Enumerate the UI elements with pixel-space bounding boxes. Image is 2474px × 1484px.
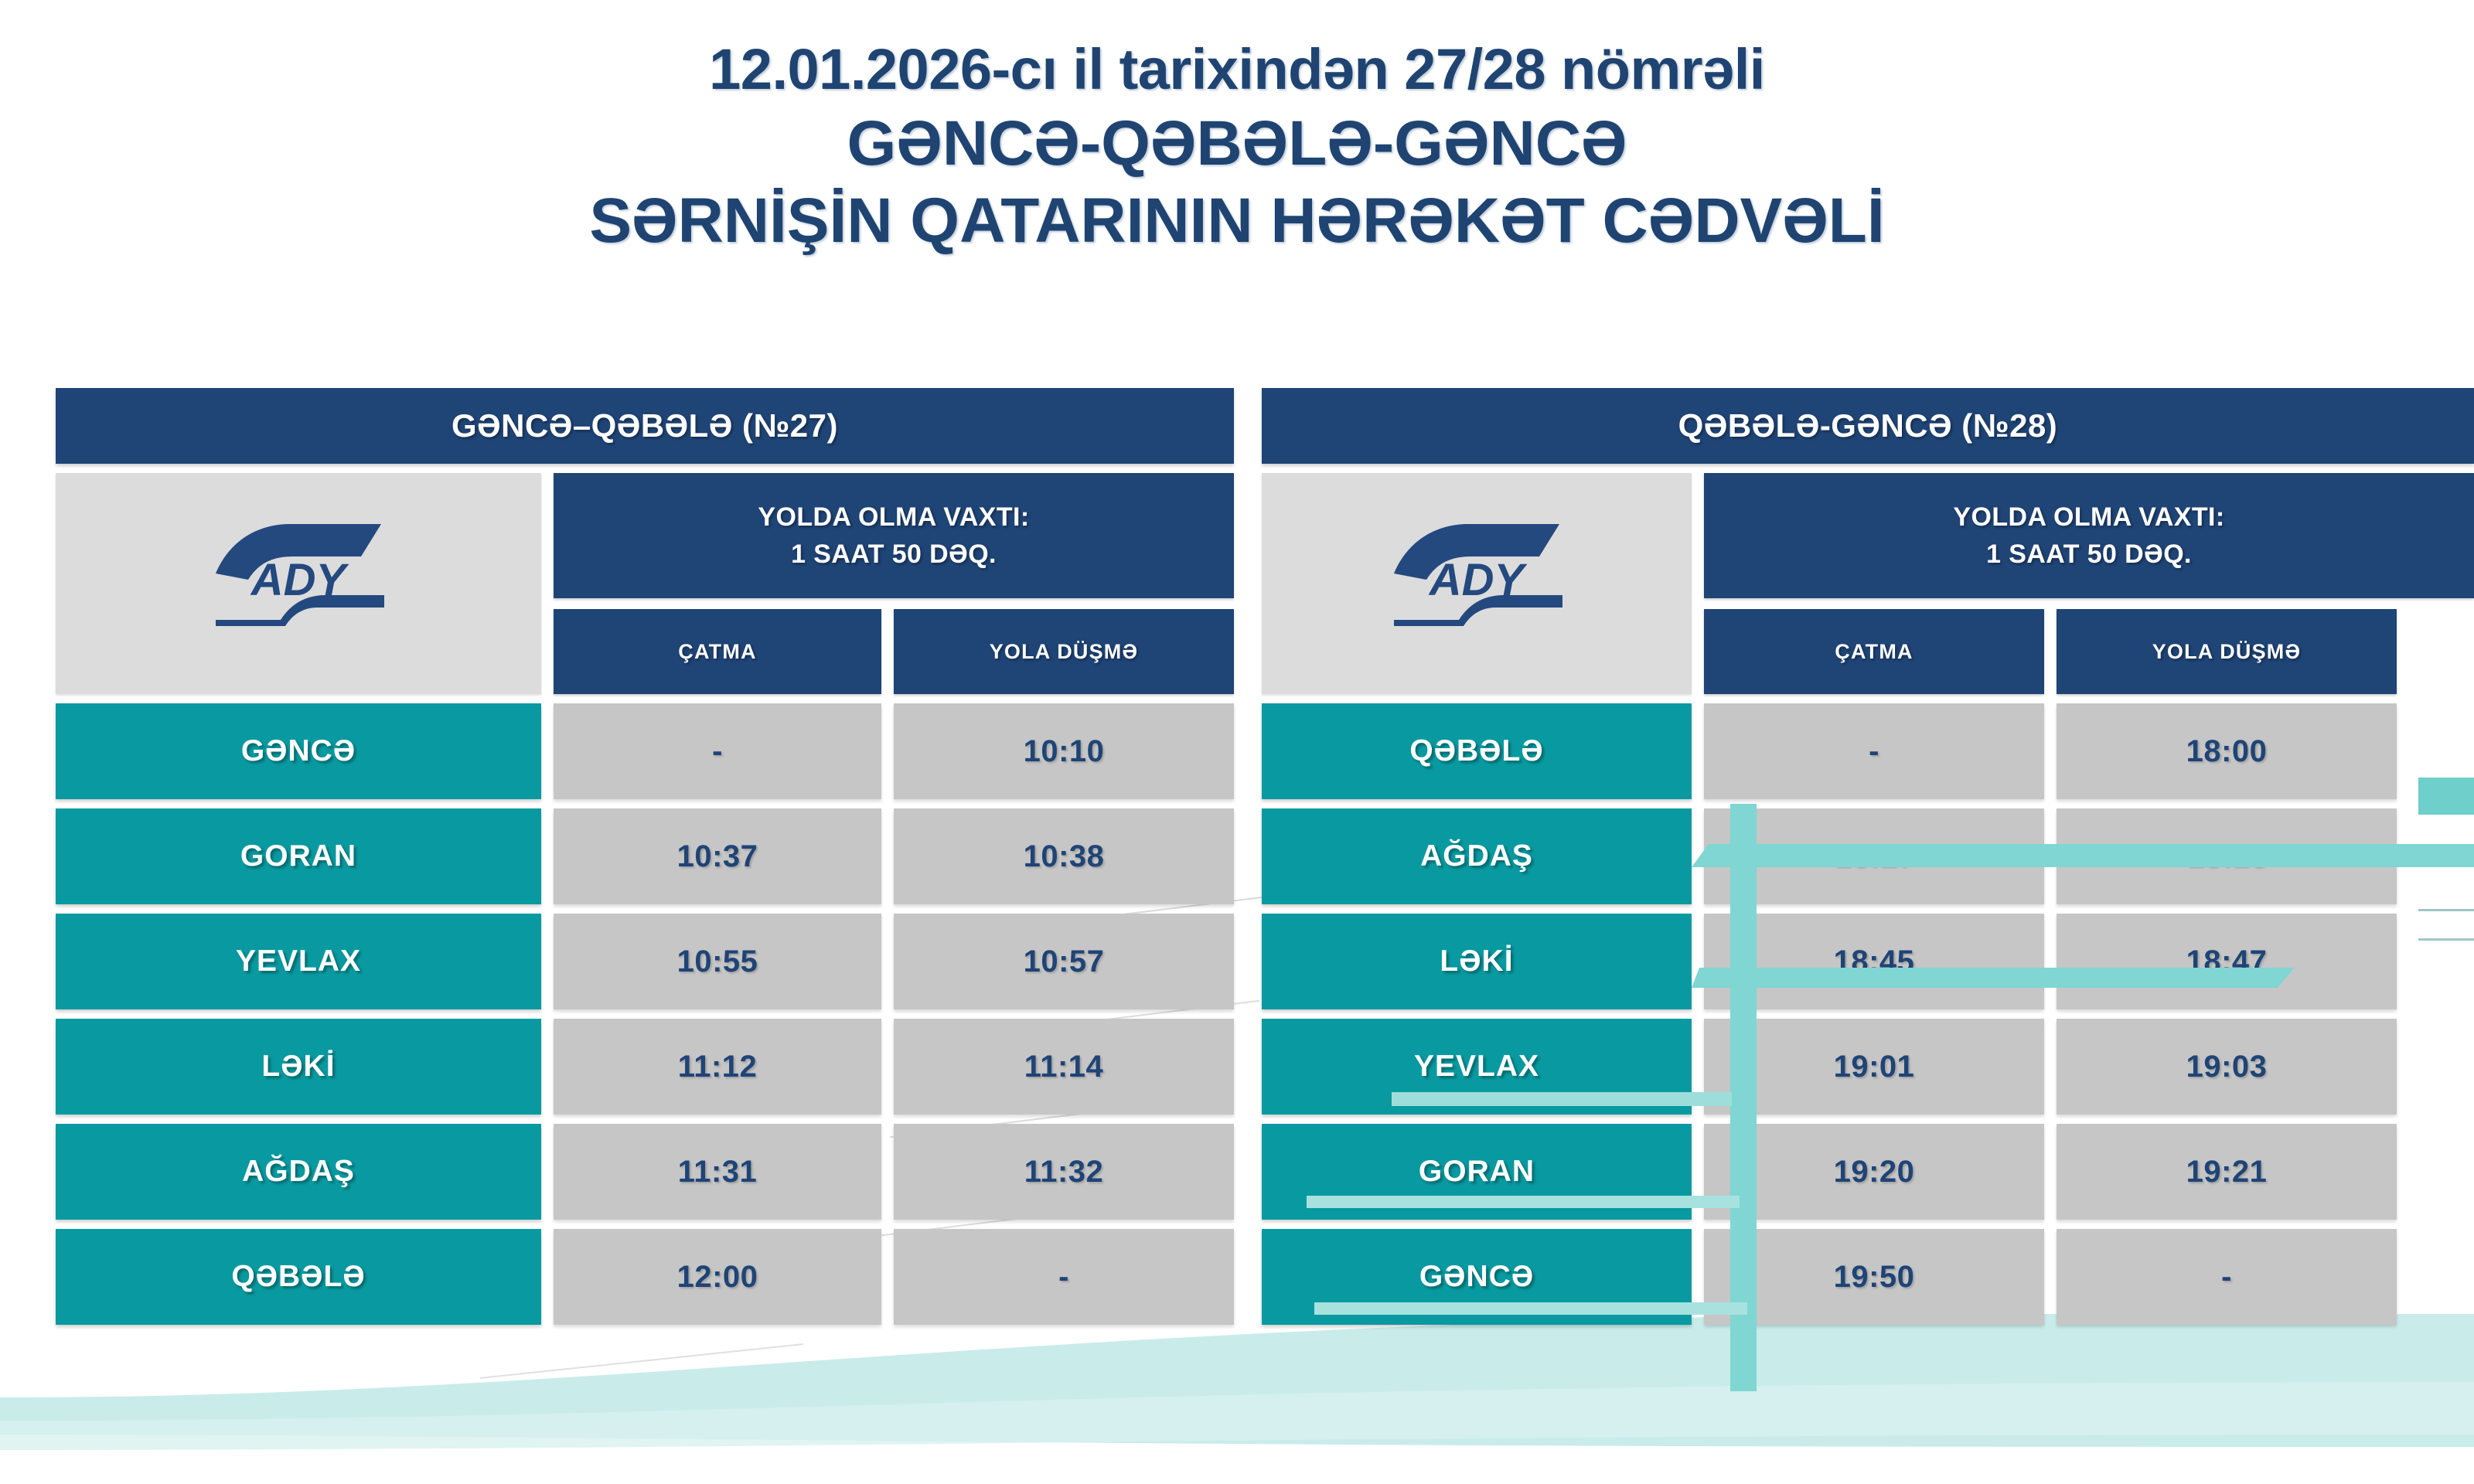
departure-time: 18:47 [2057, 914, 2397, 1009]
arrival-time: - [554, 703, 881, 799]
title-line-route: GƏNCƏ-QƏBƏLƏ-GƏNCƏ [0, 105, 2474, 182]
arrival-time: 19:20 [1704, 1124, 2044, 1220]
arrival-time: - [1704, 703, 2044, 799]
header-right-outbound: YOLDA OLMA VAXTI: 1 SAAT 50 DƏQ. ÇATMA Y… [554, 473, 1234, 694]
station-name: GORAN [56, 808, 541, 904]
departure-time: 10:57 [894, 914, 1234, 1009]
arrival-time: 19:50 [1704, 1229, 2044, 1325]
direction-banner-outbound: GƏNCƏ–QƏBƏLƏ (№27) [56, 388, 1234, 464]
arrival-time: 12:00 [554, 1229, 881, 1325]
schedule-poster: 12.01.2026-cı il tarixindən 27/28 nömrəl… [0, 0, 2474, 1484]
departure-time: 18:28 [2057, 808, 2397, 904]
station-name: LƏKİ [56, 1019, 541, 1115]
arrival-time: 11:12 [554, 1019, 881, 1115]
station-name: AĞDAŞ [56, 1124, 541, 1220]
departure-time: 19:03 [2057, 1019, 2397, 1115]
schedule-table-return: QƏBƏLƏ-GƏNCƏ (№28) ADY YOLDA OLMA VAXTI:… [1262, 388, 2474, 1325]
duration-value: 1 SAAT 50 DƏQ. [791, 536, 997, 573]
table-row: LƏKİ 11:12 11:14 [56, 1019, 1234, 1115]
table-row: YEVLAX 19:01 19:03 [1262, 1019, 2474, 1115]
arrival-time: 10:55 [554, 914, 881, 1009]
arrival-time: 19:01 [1704, 1019, 2044, 1115]
table-row: AĞDAŞ 18:27 18:28 [1262, 808, 2474, 904]
arrival-time: 10:37 [554, 808, 881, 904]
station-name: QƏBƏLƏ [1262, 703, 1692, 799]
ady-logo-icon: ADY [202, 513, 395, 654]
table-header-outbound: ADY YOLDA OLMA VAXTI: 1 SAAT 50 DƏQ. ÇAT… [56, 473, 1234, 694]
station-name: AĞDAŞ [1262, 808, 1692, 904]
ady-logo-icon: ADY [1380, 513, 1573, 654]
column-header-departure: YOLA DÜŞMƏ [2057, 609, 2397, 694]
column-header-departure: YOLA DÜŞMƏ [894, 609, 1234, 694]
departure-time: 18:00 [2057, 703, 2397, 799]
logo-cell-return: ADY [1262, 473, 1692, 694]
departure-time: 10:38 [894, 808, 1234, 904]
departure-time: 10:10 [894, 703, 1234, 799]
station-name: GƏNCƏ [56, 703, 541, 799]
column-header-arrival: ÇATMA [1704, 609, 2044, 694]
station-name: LƏKİ [1262, 914, 1692, 1009]
duration-cell-return: YOLDA OLMA VAXTI: 1 SAAT 50 DƏQ. [1704, 473, 2474, 598]
station-name: QƏBƏLƏ [56, 1229, 541, 1325]
poster-title: 12.01.2026-cı il tarixindən 27/28 nömrəl… [0, 34, 2474, 260]
table-row: GƏNCƏ 19:50 - [1262, 1229, 2474, 1325]
table-header-return: ADY YOLDA OLMA VAXTI: 1 SAAT 50 DƏQ. ÇAT… [1262, 473, 2474, 694]
duration-label: YOLDA OLMA VAXTI: [758, 499, 1029, 536]
direction-banner-return: QƏBƏLƏ-GƏNCƏ (№28) [1262, 388, 2474, 464]
table-row: GORAN 10:37 10:38 [56, 808, 1234, 904]
duration-cell-outbound: YOLDA OLMA VAXTI: 1 SAAT 50 DƏQ. [554, 473, 1234, 598]
station-name: YEVLAX [56, 914, 541, 1009]
departure-time: 11:14 [894, 1019, 1234, 1115]
departure-time: - [2057, 1229, 2397, 1325]
table-row: AĞDAŞ 11:31 11:32 [56, 1124, 1234, 1220]
column-headers-outbound: ÇATMA YOLA DÜŞMƏ [554, 609, 1234, 694]
table-row: GORAN 19:20 19:21 [1262, 1124, 2474, 1220]
station-name: GƏNCƏ [1262, 1229, 1692, 1325]
title-line-subject: SƏRNİŞİN QATARININ HƏRƏKƏT CƏDVƏLİ [0, 182, 2474, 260]
departure-time: 11:32 [894, 1124, 1234, 1220]
header-right-return: YOLDA OLMA VAXTI: 1 SAAT 50 DƏQ. ÇATMA Y… [1704, 473, 2474, 694]
column-header-arrival: ÇATMA [554, 609, 881, 694]
table-row: QƏBƏLƏ - 18:00 [1262, 703, 2474, 799]
ady-logo-text: ADY [250, 555, 350, 605]
station-name: GORAN [1262, 1124, 1692, 1220]
departure-time: - [894, 1229, 1234, 1325]
table-row: GƏNCƏ - 10:10 [56, 703, 1234, 799]
station-name: YEVLAX [1262, 1019, 1692, 1115]
table-row: YEVLAX 10:55 10:57 [56, 914, 1234, 1009]
arrival-time: 18:45 [1704, 914, 2044, 1009]
logo-cell-outbound: ADY [56, 473, 541, 694]
column-headers-return: ÇATMA YOLA DÜŞMƏ [1704, 609, 2474, 694]
schedule-table-outbound: GƏNCƏ–QƏBƏLƏ (№27) ADY YOLDA OLMA VAXTI:… [56, 388, 1234, 1325]
duration-value: 1 SAAT 50 DƏQ. [1986, 536, 2192, 573]
departure-time: 19:21 [2057, 1124, 2397, 1220]
diagonal-hairline-5 [480, 1343, 803, 1379]
title-line-date: 12.01.2026-cı il tarixindən 27/28 nömrəl… [0, 34, 2474, 105]
arrival-time: 11:31 [554, 1124, 881, 1220]
table-row: QƏBƏLƏ 12:00 - [56, 1229, 1234, 1325]
ady-logo-text: ADY [1428, 555, 1528, 605]
table-row: LƏKİ 18:45 18:47 [1262, 914, 2474, 1009]
duration-label: YOLDA OLMA VAXTI: [1953, 499, 2224, 536]
arrival-time: 18:27 [1704, 808, 2044, 904]
